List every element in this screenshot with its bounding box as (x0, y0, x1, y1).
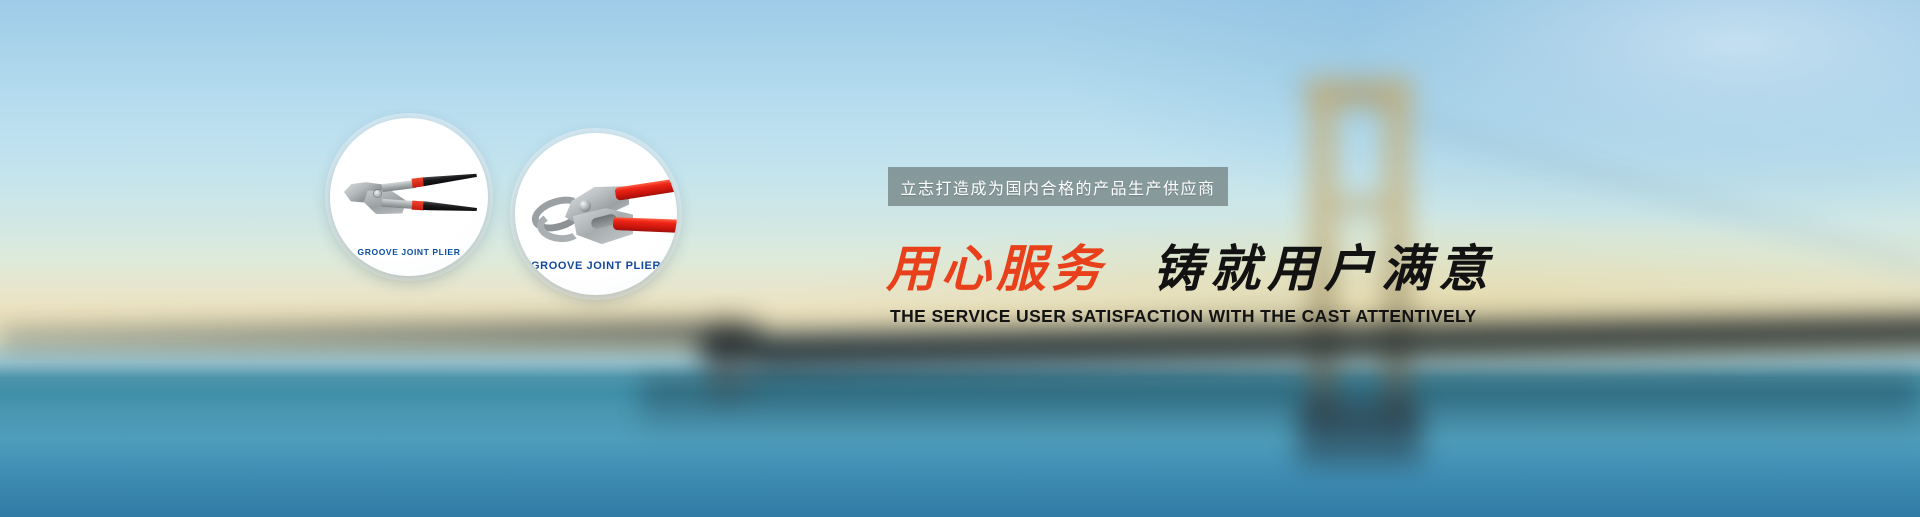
product-circle-1[interactable]: GROOVE JOINT PLIER (330, 118, 488, 276)
groove-joint-plier-red-image (515, 156, 677, 247)
product-label-2: GROOVE JOINT PLIER (531, 261, 661, 272)
headline: 用心服务 铸就用户满意 (886, 244, 1495, 294)
plier1-handle-upper (423, 170, 478, 186)
product-circle-2[interactable]: GROOVE JOINT PLIER (515, 133, 677, 295)
plier1-red-collar-upper (411, 177, 424, 187)
plier1-red-collar-lower (412, 200, 425, 210)
headline-black-part: 铸就用户满意 (1153, 241, 1495, 297)
product-label-1: GROOVE JOINT PLIER (358, 248, 461, 257)
bridge-deck-left-span (0, 322, 760, 351)
headline-red-part: 用心服务 (886, 241, 1106, 297)
water-reflection (640, 378, 1920, 438)
subheadline: THE SERVICE USER SATISFACTION WITH THE C… (890, 306, 1477, 327)
groove-joint-plier-black-image (330, 138, 488, 226)
plier2-handle-upper (614, 177, 677, 201)
plier1-handle-lower (423, 201, 477, 214)
tagline-text: 立志打造成为国内合格的产品生产供应商 (900, 175, 1215, 199)
hero-banner: GROOVE JOINT PLIER GROOVE JOINT PLIER 立志… (0, 0, 1920, 517)
plier1-pivot-rivet (374, 190, 381, 197)
tagline-bar: 立志打造成为国内合格的产品生产供应商 (888, 167, 1228, 206)
